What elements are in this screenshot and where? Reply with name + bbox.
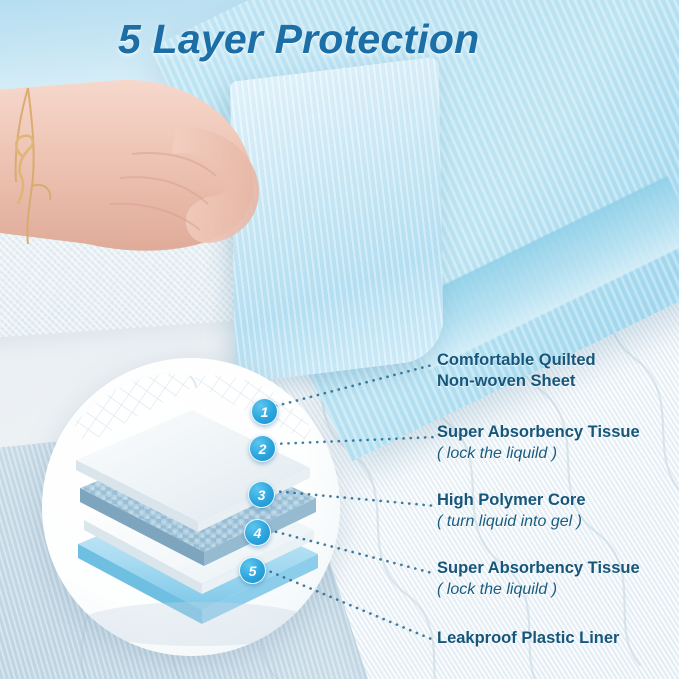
layer-2-title: Super Absorbency Tissue bbox=[437, 422, 640, 443]
layer-label-5: Leakproof Plastic Liner bbox=[437, 628, 619, 649]
hand-illustration bbox=[0, 58, 300, 288]
layer-label-2: Super Absorbency Tissue ( lock the liqui… bbox=[437, 422, 640, 464]
infographic-canvas: 5 Layer Protection bbox=[0, 0, 679, 679]
layer-badge-3: 3 bbox=[248, 481, 275, 508]
layer-label-3: High Polymer Core ( turn liquid into gel… bbox=[437, 490, 586, 532]
layer-3-title: High Polymer Core bbox=[437, 490, 586, 511]
layer-label-1: Comfortable Quilted Non-woven Sheet bbox=[437, 350, 596, 392]
layer-badge-4: 4 bbox=[244, 519, 271, 546]
layer-badge-1: 1 bbox=[251, 398, 278, 425]
layer-5-title: Leakproof Plastic Liner bbox=[437, 628, 619, 649]
layer-2-note: ( lock the liquild ) bbox=[437, 443, 640, 464]
layer-badge-2: 2 bbox=[249, 435, 276, 462]
layer-1-title: Comfortable Quilted bbox=[437, 350, 596, 371]
page-title: 5 Layer Protection bbox=[118, 16, 588, 63]
layer-1-title-line2: Non-woven Sheet bbox=[437, 371, 596, 392]
layer-4-title: Super Absorbency Tissue bbox=[437, 558, 640, 579]
layer-4-note: ( lock the liquild ) bbox=[437, 579, 640, 600]
layer-3-note: ( turn liquid into gel ) bbox=[437, 511, 586, 532]
layer-closeup-circle bbox=[42, 358, 340, 656]
layer-badge-5: 5 bbox=[239, 557, 266, 584]
layer-label-4: Super Absorbency Tissue ( lock the liqui… bbox=[437, 558, 640, 600]
